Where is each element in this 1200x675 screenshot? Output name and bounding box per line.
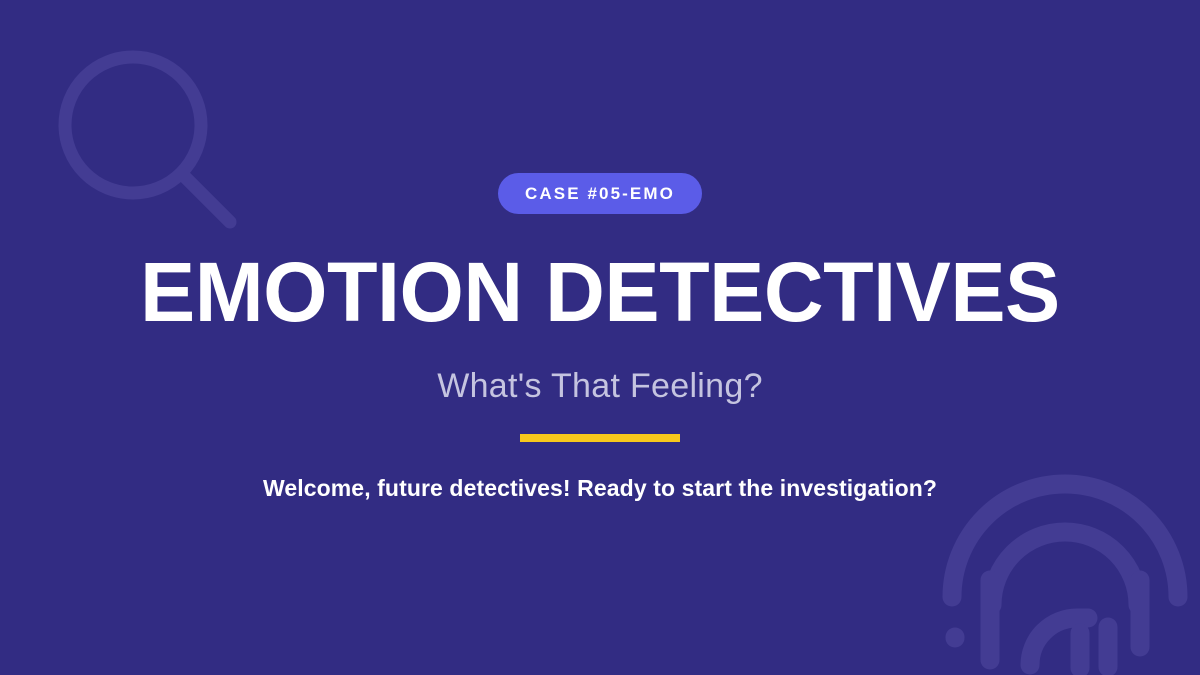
subtitle: What's That Feeling?	[437, 368, 763, 405]
divider	[520, 434, 680, 442]
slide-content: CASE #05-EMO EMOTION DETECTIVES What's T…	[0, 0, 1200, 675]
tagline: Welcome, future detectives! Ready to sta…	[263, 475, 937, 503]
case-badge: CASE #05-EMO	[498, 173, 702, 214]
page-title: EMOTION DETECTIVES	[140, 250, 1060, 334]
title-slide: CASE #05-EMO EMOTION DETECTIVES What's T…	[0, 0, 1200, 675]
